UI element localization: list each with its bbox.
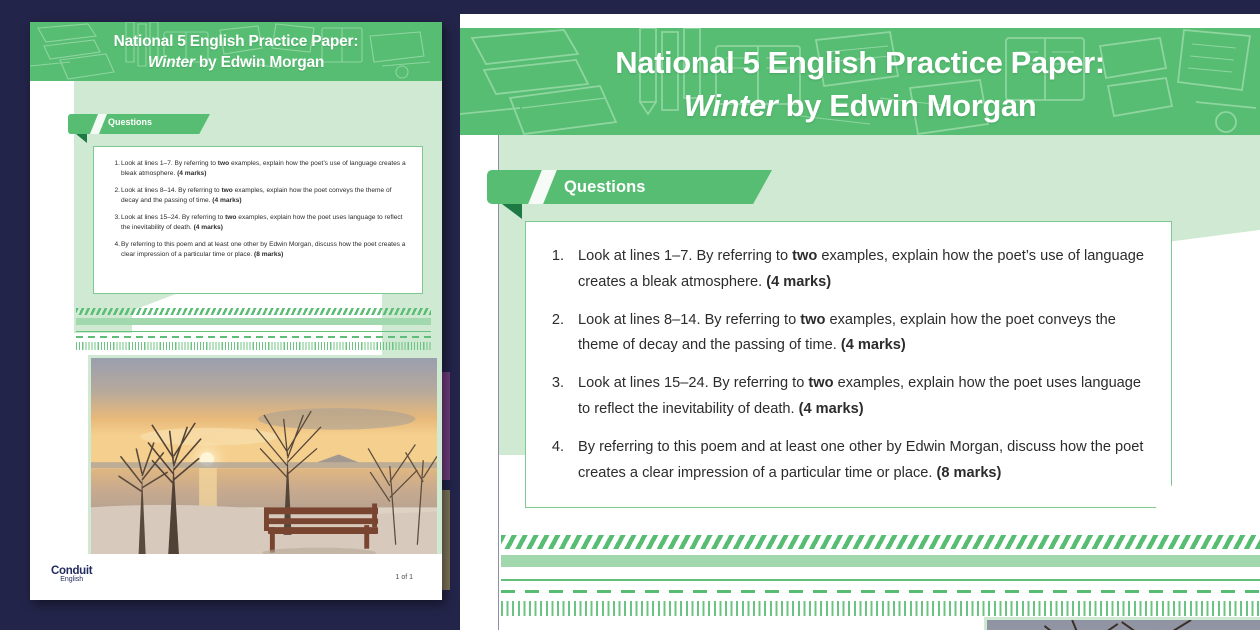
thumbnail-question-list: 1.Look at lines 1–7. By referring to two…	[104, 159, 408, 260]
question-item: 3.Look at lines 15–24. By referring to t…	[534, 371, 1145, 423]
thumbnail-footer: Conduit English 1 of 1	[30, 554, 442, 600]
question-text: By referring to this poem and at least o…	[578, 439, 1143, 481]
question-item: 3.Look at lines 15–24. By referring to t…	[104, 213, 408, 233]
band-diagonal-hatch	[501, 535, 1260, 549]
question-text-emphasis: two	[218, 160, 229, 167]
question-text-emphasis: (4 marks)	[177, 170, 206, 177]
preview-title-line1: National 5 English Practice Paper:	[615, 45, 1104, 80]
question-number: 3.	[108, 213, 120, 223]
question-list: 1.Look at lines 1–7. By referring to two…	[534, 244, 1145, 487]
question-text-emphasis: two	[792, 248, 817, 264]
question-item: 2.Look at lines 8–14. By referring to tw…	[534, 308, 1145, 360]
band-diagonal-hatch	[76, 308, 431, 315]
question-text-emphasis: (4 marks)	[212, 197, 241, 204]
page-left-edge-rule	[498, 135, 499, 630]
question-item: 4.By referring to this poem and at least…	[104, 240, 408, 260]
question-item: 1.Look at lines 1–7. By referring to two…	[534, 244, 1145, 296]
question-number: 1.	[542, 244, 564, 270]
thumbnail-questions-box: 1.Look at lines 1–7. By referring to two…	[93, 146, 423, 294]
question-number: 2.	[542, 308, 564, 334]
winter-photo	[984, 617, 1260, 630]
question-text-emphasis: (4 marks)	[799, 401, 864, 417]
question-text-emphasis: (4 marks)	[841, 337, 906, 353]
document-thumbnail-card[interactable]: National 5 English Practice Paper: Winte…	[30, 22, 442, 600]
thumbnail-title-poem: Winter	[148, 54, 195, 71]
preview-header-banner: National 5 English Practice Paper: Winte…	[460, 28, 1260, 135]
question-text-emphasis: two	[221, 187, 232, 194]
screenshot-stage: National 5 English Practice Paper: Winte…	[0, 0, 1260, 630]
question-number: 3.	[542, 371, 564, 397]
question-number: 2.	[108, 186, 120, 196]
question-text: Look at lines 1–7. By referring to	[578, 248, 792, 264]
question-number: 1.	[108, 159, 120, 169]
thumbnail-header-banner: National 5 English Practice Paper: Winte…	[30, 22, 442, 81]
question-item: 4.By referring to this poem and at least…	[534, 435, 1145, 487]
questions-ribbon: Questions	[487, 170, 772, 204]
band-thin-rule	[76, 331, 431, 332]
thumbnail-section-label: Questions	[108, 117, 152, 127]
thumbnail-page-indicator: 1 of 1	[395, 574, 413, 581]
question-item: 2.Look at lines 8–14. By referring to tw…	[104, 186, 408, 206]
preview-title-author: by Edwin Morgan	[777, 88, 1036, 123]
question-item: 1.Look at lines 1–7. By referring to two…	[104, 159, 408, 179]
question-text-emphasis: (4 marks)	[766, 274, 831, 290]
band-vertical-ticks	[501, 601, 1260, 616]
thumbnail-title: National 5 English Practice Paper: Winte…	[30, 22, 442, 73]
thumbnail-questions-ribbon: Questions	[68, 114, 210, 134]
preview-title: National 5 English Practice Paper: Winte…	[460, 28, 1260, 128]
question-text-emphasis: two	[800, 312, 825, 328]
question-text: Look at lines 15–24. By referring to	[121, 214, 225, 221]
thumbnail-decorative-bands	[76, 308, 431, 350]
decorative-bands	[501, 535, 1260, 616]
band-vertical-ticks	[76, 342, 431, 350]
band-solid-bar	[76, 318, 431, 325]
question-text-emphasis: (4 marks)	[194, 224, 223, 231]
band-dashed-line	[76, 336, 431, 338]
conduit-logo: Conduit English	[51, 565, 92, 583]
question-text: Look at lines 1–7. By referring to	[121, 160, 218, 167]
thumbnail-title-line1: National 5 English Practice Paper:	[114, 33, 359, 50]
question-text-emphasis: (8 marks)	[937, 465, 1002, 481]
band-solid-bar	[501, 555, 1260, 567]
document-preview-panel[interactable]: National 5 English Practice Paper: Winte…	[460, 14, 1260, 630]
preview-title-poem: Winter	[684, 88, 778, 123]
thumbnail-winter-photo	[88, 355, 440, 564]
question-number: 4.	[542, 435, 564, 461]
question-text-emphasis: two	[225, 214, 236, 221]
question-text: Look at lines 15–24. By referring to	[578, 375, 808, 391]
band-dashed-line	[501, 590, 1260, 593]
band-thin-rule	[501, 579, 1260, 581]
question-text-emphasis: two	[808, 375, 833, 391]
question-number: 4.	[108, 240, 120, 250]
question-text: Look at lines 8–14. By referring to	[578, 312, 800, 328]
thumbnail-title-author: by Edwin Morgan	[195, 54, 324, 71]
logo-subject-text: English	[51, 576, 92, 583]
question-text: Look at lines 8–14. By referring to	[121, 187, 221, 194]
section-label-questions: Questions	[564, 178, 646, 197]
questions-box: 1.Look at lines 1–7. By referring to two…	[525, 221, 1172, 508]
question-text-emphasis: (8 marks)	[254, 251, 283, 258]
